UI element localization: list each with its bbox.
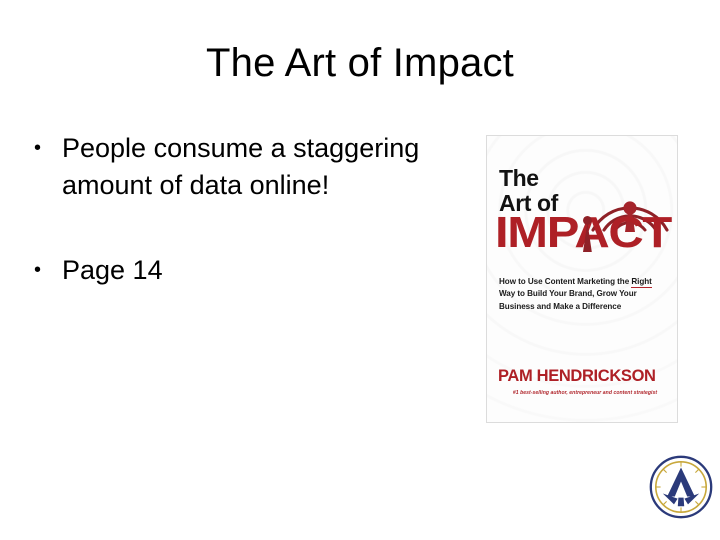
bullet-text: Page 14 xyxy=(62,252,434,289)
presentation-slide: The Art of Impact • People consume a sta… xyxy=(0,0,720,540)
slide-body-bullet-list: • People consume a staggering amount of … xyxy=(34,130,434,289)
bullet-marker-icon: • xyxy=(34,130,62,167)
cover-impact-text: IMPACT xyxy=(495,211,672,253)
cover-author-name: PAM HENDRICKSON xyxy=(498,367,670,386)
list-item: • People consume a staggering amount of … xyxy=(34,130,434,204)
cover-author-tagline: #1 best-selling author, entrepreneur and… xyxy=(500,390,670,396)
slide-title: The Art of Impact xyxy=(0,40,720,86)
cover-title-the-art-of: The Art of xyxy=(499,166,558,216)
cover-subtitle-part-2: Way to Build Your Brand, Grow Your Busin… xyxy=(499,289,637,310)
cover-title-line-1: The xyxy=(499,166,558,191)
book-cover-image: The Art of IMPACT How to Use Content Mar… xyxy=(486,135,678,423)
cover-subtitle-highlight: Right xyxy=(631,277,651,288)
list-item: • Page 14 xyxy=(34,252,434,289)
cover-impact-wordmark: IMPACT xyxy=(495,211,673,253)
bullet-text: People consume a staggering amount of da… xyxy=(62,130,434,204)
aircraft-emblem-logo-icon xyxy=(649,455,713,519)
bullet-marker-icon: • xyxy=(34,252,62,289)
cover-subtitle-part-1: How to Use Content Marketing the xyxy=(499,277,631,286)
cover-subtitle: How to Use Content Marketing the Right W… xyxy=(499,276,669,313)
